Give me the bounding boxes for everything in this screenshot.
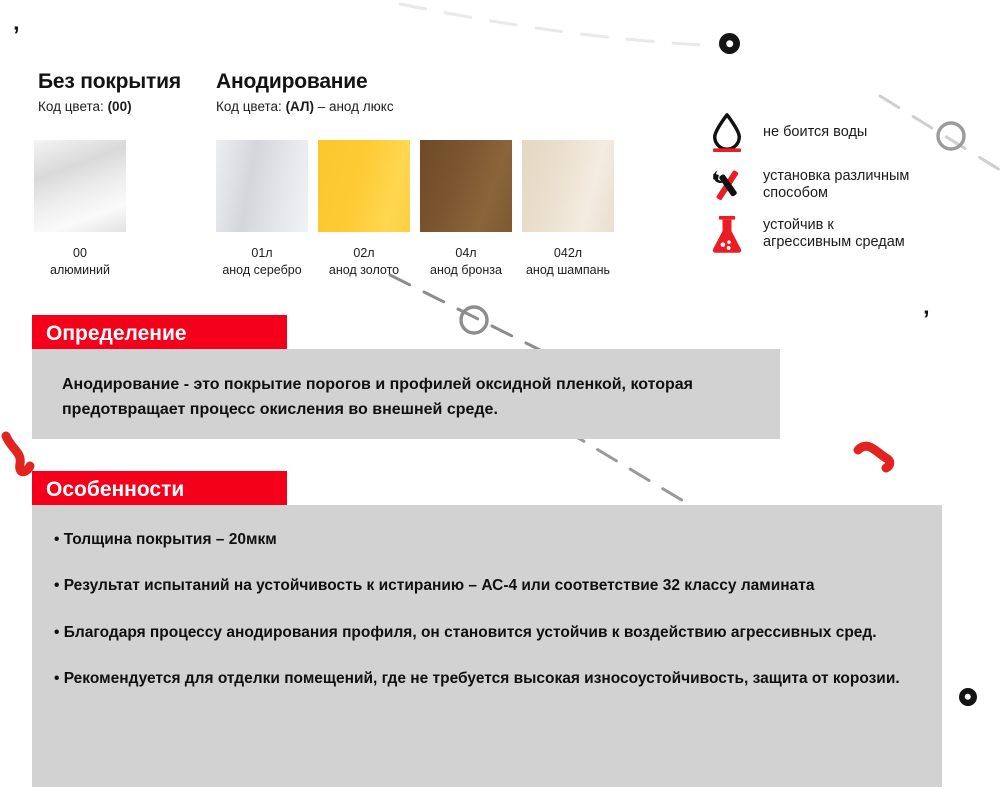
swatch-04l bbox=[420, 140, 512, 232]
definition-badge: Определение bbox=[32, 315, 287, 349]
swatch-caption-04l: 04л анод бронза bbox=[412, 245, 520, 279]
swatch-caption-02l: 02л анод золото bbox=[310, 245, 418, 279]
column-subtitle-anodized: Код цвета: (АЛ) – анод люкс bbox=[216, 99, 394, 114]
swatch-code-01l: 01л bbox=[208, 245, 316, 262]
deco-circle-right bbox=[938, 123, 964, 149]
characteristic-item-1: • Толщина покрытия – 20мкм bbox=[54, 527, 916, 553]
anodized-code-suffix: – анод люкс bbox=[314, 99, 394, 114]
feature-label-chemical: устойчив к агрессивным средам bbox=[763, 217, 905, 250]
swatch-code-04l: 04л bbox=[412, 245, 520, 262]
swatch-caption-01l: 01л анод серебро bbox=[208, 245, 316, 279]
swatch-caption-00: 00 алюминий bbox=[26, 245, 134, 279]
swatch-01l bbox=[216, 140, 308, 232]
deco-ring-top-right bbox=[719, 33, 740, 54]
definition-panel: Анодирование - это покрытие порогов и пр… bbox=[32, 349, 780, 439]
red-squiggle-right bbox=[858, 446, 890, 468]
feature-row-water: не боится воды bbox=[705, 110, 867, 154]
red-squiggle-left bbox=[6, 436, 30, 472]
feature-label-water: не боится воды bbox=[763, 124, 867, 141]
flask-icon bbox=[705, 212, 749, 256]
swatch-042l bbox=[522, 140, 614, 232]
water-drop-icon bbox=[705, 110, 749, 154]
swatch-02l bbox=[318, 140, 410, 232]
characteristic-item-4: • Рекомендуется для отделки помещений, г… bbox=[54, 666, 916, 692]
column-title-uncoated: Без покрытия bbox=[38, 70, 181, 94]
dashed-line-middle bbox=[390, 275, 540, 350]
swatch-00 bbox=[34, 140, 126, 232]
wrench-screwdriver-icon bbox=[705, 163, 749, 207]
deco-hook-mid-right: ’ bbox=[923, 308, 930, 332]
swatch-name-042l: анод шампань bbox=[514, 262, 622, 279]
feature-row-install: установка различным способом bbox=[705, 163, 909, 207]
deco-circle-middle bbox=[461, 307, 487, 333]
swatch-code-02l: 02л bbox=[310, 245, 418, 262]
deco-hook-top-left: ’ bbox=[13, 24, 20, 48]
uncoated-code-prefix: Код цвета: bbox=[38, 99, 108, 114]
column-subtitle-uncoated: Код цвета: (00) bbox=[38, 99, 132, 114]
swatch-name-02l: анод золото bbox=[310, 262, 418, 279]
characteristic-item-3: • Благодаря процессу анодирования профил… bbox=[54, 620, 916, 646]
dashed-line-middle-lower bbox=[565, 430, 690, 505]
dashed-line-top bbox=[400, 4, 720, 46]
swatch-name-00: алюминий bbox=[26, 262, 134, 279]
swatch-code-00: 00 bbox=[26, 245, 134, 262]
characteristic-item-2: • Результат испытаний на устойчивость к … bbox=[54, 573, 916, 599]
swatch-code-042l: 042л bbox=[514, 245, 622, 262]
swatch-caption-042l: 042л анод шампань bbox=[514, 245, 622, 279]
characteristics-panel: • Толщина покрытия – 20мкм • Результат и… bbox=[32, 505, 942, 787]
swatch-name-01l: анод серебро bbox=[208, 262, 316, 279]
anodized-code-value: (АЛ) bbox=[286, 99, 314, 114]
column-title-anodized: Анодирование bbox=[216, 70, 367, 94]
feature-label-install: установка различным способом bbox=[763, 168, 909, 201]
characteristics-badge: Особенности bbox=[32, 471, 287, 505]
feature-row-chemical: устойчив к агрессивным средам bbox=[705, 212, 905, 256]
uncoated-code-value: (00) bbox=[108, 99, 132, 114]
dashed-line-right bbox=[880, 96, 1000, 170]
swatch-name-04l: анод бронза bbox=[412, 262, 520, 279]
definition-text: Анодирование - это покрытие порогов и пр… bbox=[62, 376, 693, 418]
deco-ring-bottom-right bbox=[959, 688, 977, 706]
anodized-code-prefix: Код цвета: bbox=[216, 99, 286, 114]
